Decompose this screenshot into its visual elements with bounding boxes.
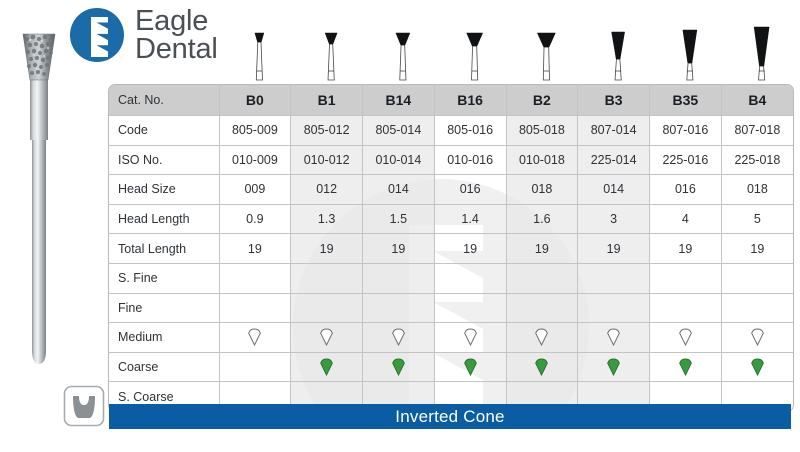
cell-value: 012 (291, 175, 363, 205)
specification-table: Cat. No. B0B1B14B16B2B3B35B4 Code805-009… (108, 84, 794, 412)
row-label: ISO No. (109, 145, 219, 175)
cell-value: 009 (219, 175, 291, 205)
row-label: Total Length (109, 234, 219, 264)
table-row: Code805-009805-012805-014805-016805-0188… (109, 116, 793, 146)
cell-value: 19 (291, 234, 363, 264)
cell-grit-marker (434, 352, 506, 382)
cell-value: 010-018 (506, 145, 578, 175)
cell-grit-marker (650, 352, 722, 382)
grit-marker-green-icon (750, 358, 765, 376)
cell-grit-marker (363, 352, 435, 382)
cell-grit-marker (291, 293, 363, 323)
cell-value: 5 (721, 204, 793, 234)
grit-marker-outline-icon (391, 328, 406, 346)
row-label: Head Length (109, 204, 219, 234)
table-header-row: Cat. No. B0B1B14B16B2B3B35B4 (109, 85, 793, 116)
cell-value: 807-014 (578, 116, 650, 146)
bur-illustration-b14 (396, 33, 410, 80)
cell-grit-marker (650, 263, 722, 293)
header-col-b1: B1 (291, 85, 363, 116)
cell-value: 19 (578, 234, 650, 264)
header-col-b4: B4 (721, 85, 793, 116)
bur-illustration-b16 (467, 33, 483, 80)
cell-value: 805-012 (291, 116, 363, 146)
cell-value: 014 (363, 175, 435, 205)
cell-value: 225-018 (721, 145, 793, 175)
cell-grit-marker (291, 323, 363, 353)
bur-illustration-b35 (683, 30, 697, 80)
header-col-b16: B16 (434, 85, 506, 116)
header-col-b35: B35 (650, 85, 722, 116)
grit-marker-outline-icon (319, 328, 334, 346)
banner-title: Inverted Cone (395, 407, 504, 427)
cell-value: 807-016 (650, 116, 722, 146)
cell-grit-marker (363, 293, 435, 323)
header-col-b14: B14 (363, 85, 435, 116)
cell-value: 010-016 (434, 145, 506, 175)
cell-grit-marker (434, 263, 506, 293)
cell-grit-marker (578, 323, 650, 353)
cell-value: 010-014 (363, 145, 435, 175)
grit-marker-outline-icon (463, 328, 478, 346)
cell-value: 19 (434, 234, 506, 264)
brand-line-1: Eagle (135, 7, 218, 35)
cell-grit-marker (578, 352, 650, 382)
cell-value: 1.3 (291, 204, 363, 234)
cell-grit-marker (506, 293, 578, 323)
cell-value: 1.5 (363, 204, 435, 234)
grit-marker-green-icon (463, 358, 478, 376)
cell-value: 805-018 (506, 116, 578, 146)
table-row: S. Fine (109, 263, 793, 293)
brand-wordmark: Eagle Dental (135, 7, 218, 63)
cell-value: 19 (219, 234, 291, 264)
row-label: Fine (109, 293, 219, 323)
cell-grit-marker (650, 293, 722, 323)
grit-marker-green-icon (606, 358, 621, 376)
table-row: Total Length1919191919191919 (109, 234, 793, 264)
bur-illustration-b4 (754, 27, 769, 80)
cell-value: 018 (506, 175, 578, 205)
grit-marker-green-icon (391, 358, 406, 376)
cell-grit-marker (363, 263, 435, 293)
row-label: Medium (109, 323, 219, 353)
cell-value: 018 (721, 175, 793, 205)
grit-marker-green-icon (678, 358, 693, 376)
cell-grit-marker (650, 323, 722, 353)
cell-value: 3 (578, 204, 650, 234)
diamond-bur-inverted-cone-photo (17, 20, 61, 370)
header-col-b3: B3 (578, 85, 650, 116)
grit-marker-outline-icon (750, 328, 765, 346)
bur-spec-table: Cat. No. B0B1B14B16B2B3B35B4 Code805-009… (109, 85, 793, 411)
cell-value: 19 (721, 234, 793, 264)
bur-illustration-strip (218, 2, 800, 84)
table-row: ISO No.010-009010-012010-014010-016010-0… (109, 145, 793, 175)
header-col-b2: B2 (506, 85, 578, 116)
table-row: Medium (109, 323, 793, 353)
cell-grit-marker (219, 293, 291, 323)
cell-value: 805-014 (363, 116, 435, 146)
grit-marker-outline-icon (606, 328, 621, 346)
cell-value: 014 (578, 175, 650, 205)
grit-marker-green-icon (319, 358, 334, 376)
cell-grit-marker (721, 352, 793, 382)
cell-grit-marker (578, 293, 650, 323)
table-row: Head Length0.91.31.51.41.6345 (109, 204, 793, 234)
cell-value: 1.6 (506, 204, 578, 234)
grit-marker-green-icon (534, 358, 549, 376)
cell-grit-marker (721, 323, 793, 353)
eagle-dental-logo-icon (68, 6, 126, 64)
cell-value: 016 (434, 175, 506, 205)
cell-value: 805-016 (434, 116, 506, 146)
cell-value: 19 (363, 234, 435, 264)
cell-value: 010-009 (219, 145, 291, 175)
cell-value: 0.9 (219, 204, 291, 234)
cell-value: 016 (650, 175, 722, 205)
row-label: S. Fine (109, 263, 219, 293)
cell-value: 1.4 (434, 204, 506, 234)
brand-header: Eagle Dental (68, 6, 218, 64)
cell-value: 19 (650, 234, 722, 264)
bur-illustration-b3 (612, 32, 625, 80)
bur-illustration-b2 (537, 33, 555, 80)
cell-grit-marker (291, 263, 363, 293)
table-row: Coarse (109, 352, 793, 382)
cell-value: 807-018 (721, 116, 793, 146)
cell-grit-marker (506, 263, 578, 293)
cell-grit-marker (721, 263, 793, 293)
product-type-banner: Inverted Cone (109, 404, 791, 429)
row-label: Code (109, 116, 219, 146)
cell-grit-marker (578, 263, 650, 293)
row-label: Coarse (109, 352, 219, 382)
table-row: Head Size009012014016018014016018 (109, 175, 793, 205)
cell-grit-marker (506, 323, 578, 353)
cell-grit-marker (434, 293, 506, 323)
row-label: Head Size (109, 175, 219, 205)
cell-grit-marker (363, 323, 435, 353)
grit-marker-outline-icon (678, 328, 693, 346)
grit-marker-outline-icon (247, 328, 262, 346)
cell-value: 010-012 (291, 145, 363, 175)
cell-value: 4 (650, 204, 722, 234)
grit-marker-outline-icon (534, 328, 549, 346)
cell-grit-marker (219, 352, 291, 382)
cell-grit-marker (219, 263, 291, 293)
bur-illustration-b0 (255, 33, 264, 80)
cell-grit-marker (291, 352, 363, 382)
tooth-preparation-shape-icon (62, 384, 106, 428)
table-row: Fine (109, 293, 793, 323)
cell-value: 805-009 (219, 116, 291, 146)
cell-value: 225-014 (578, 145, 650, 175)
brand-line-2: Dental (135, 35, 218, 63)
cell-grit-marker (506, 352, 578, 382)
cell-value: 225-016 (650, 145, 722, 175)
header-cat-no: Cat. No. (109, 85, 219, 116)
header-col-b0: B0 (219, 85, 291, 116)
cell-grit-marker (434, 323, 506, 353)
cell-value: 19 (506, 234, 578, 264)
cell-grit-marker (219, 323, 291, 353)
bur-illustration-b1 (325, 33, 337, 80)
cell-grit-marker (721, 293, 793, 323)
